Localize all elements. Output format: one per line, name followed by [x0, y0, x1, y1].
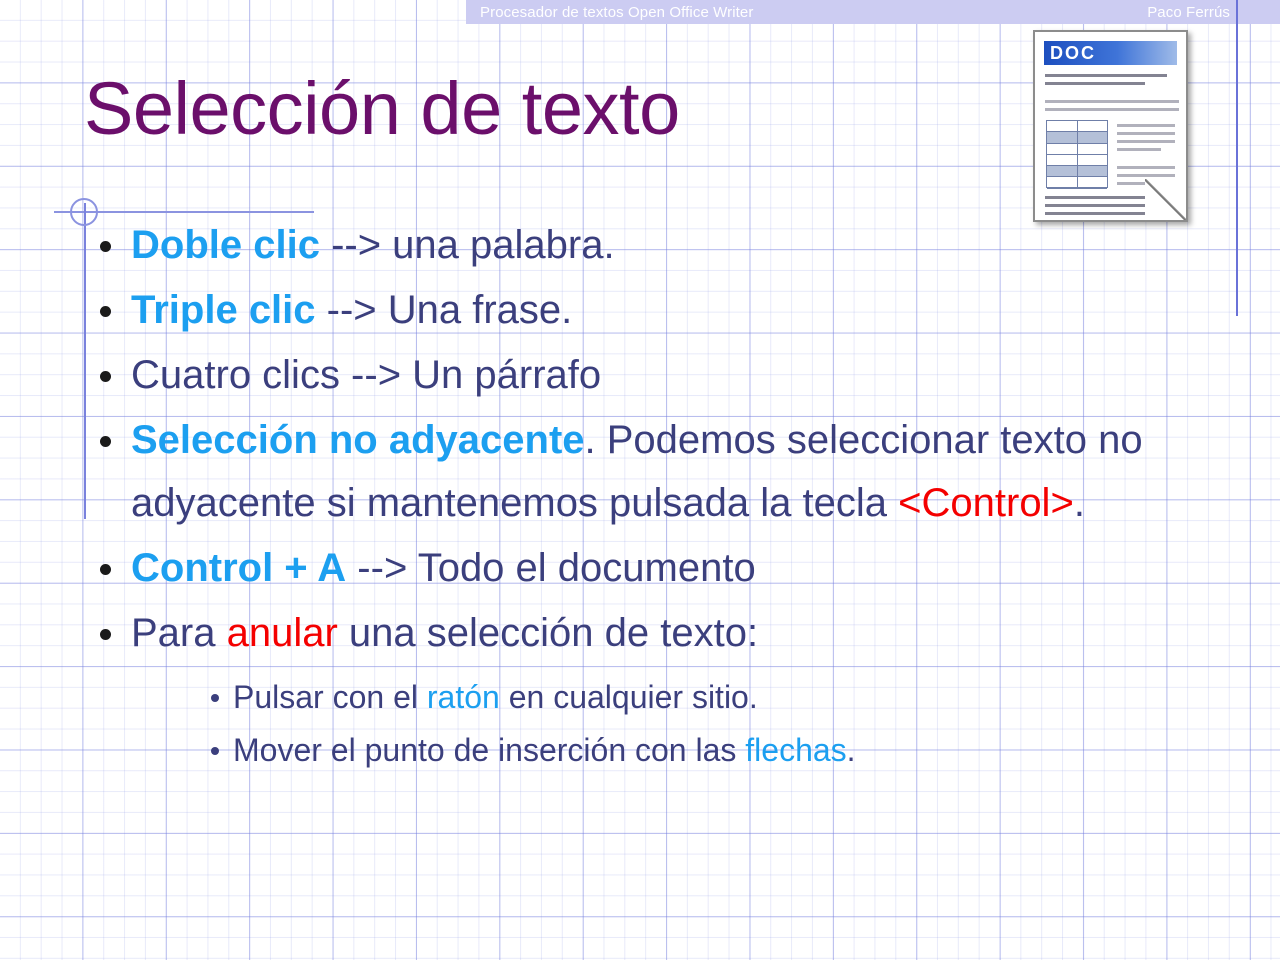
page-title: Selección de texto	[84, 66, 680, 152]
sub-bullet-dot-icon	[211, 694, 219, 702]
doc-text-line	[1045, 74, 1167, 77]
bullet-text-span: --> una palabra.	[320, 223, 615, 267]
bullet-text-span: --> Todo el documento	[346, 546, 756, 590]
bullet-text-span: --> Una frase.	[316, 288, 573, 332]
bullet-text-span: anular	[227, 611, 338, 655]
bullet-text-span: <Control>	[898, 481, 1074, 525]
bullet-text-span: Control + A	[131, 546, 346, 590]
bullet-list: Doble clic --> una palabra.Triple clic -…	[84, 214, 1194, 777]
bullet-text-span: Mover el punto de inserción con las	[233, 732, 745, 768]
bullet-text-span: .	[847, 732, 856, 768]
doc-text-line	[1117, 166, 1175, 169]
doc-text-line	[1045, 108, 1179, 111]
slide-body: Doble clic --> una palabra.Triple clic -…	[84, 214, 1194, 779]
doc-table-column-separator	[1077, 121, 1078, 187]
bullet-text-span: Triple clic	[131, 288, 316, 332]
doc-text-line	[1045, 100, 1179, 103]
right-accent-rule	[1236, 0, 1238, 316]
bullet-text-span: Cuatro clics --> Un párrafo	[131, 353, 601, 397]
doc-text-line	[1117, 132, 1175, 135]
bullet-dot-icon	[100, 241, 111, 252]
list-item: Para anular una selección de texto:Pulsa…	[84, 602, 1194, 777]
doc-document-thumbnail-icon: DOC	[1033, 30, 1188, 222]
bullet-text-span: Doble clic	[131, 223, 320, 267]
list-item: Selección no adyacente. Podemos seleccio…	[84, 409, 1194, 535]
bullet-text-span: Pulsar con el	[233, 679, 427, 715]
bullet-text-span: ratón	[427, 679, 500, 715]
bullet-dot-icon	[100, 371, 111, 382]
bullet-dot-icon	[100, 564, 111, 575]
list-item: Triple clic --> Una frase.	[84, 279, 1194, 342]
bullet-text-span: .	[1074, 481, 1085, 525]
header-course-title: Procesador de textos Open Office Writer	[480, 5, 753, 20]
doc-text-line	[1117, 148, 1161, 151]
doc-text-line	[1117, 140, 1175, 143]
bullet-dot-icon	[100, 436, 111, 447]
bullet-text-span: en cualquier sitio.	[500, 679, 758, 715]
bullet-dot-icon	[100, 306, 111, 317]
list-item: Control + A --> Todo el documento	[84, 537, 1194, 600]
sub-list-item: Mover el punto de inserción con las flec…	[205, 724, 1194, 777]
list-item: Doble clic --> una palabra.	[84, 214, 1194, 277]
sub-bullet-list: Pulsar con el ratón en cualquier sitio.M…	[131, 671, 1194, 777]
bullet-text-span: Para	[131, 611, 227, 655]
bullet-text-span: flechas	[745, 732, 846, 768]
bullet-text-span: Selección no adyacente	[131, 418, 585, 462]
doc-paper: DOC	[1033, 30, 1188, 222]
sub-bullet-dot-icon	[211, 747, 219, 755]
bullet-text-span: una selección de texto:	[338, 611, 758, 655]
slide-canvas: Procesador de textos Open Office Writer …	[0, 0, 1280, 960]
list-item: Cuatro clics --> Un párrafo	[84, 344, 1194, 407]
header-author: Paco Ferrús	[1147, 5, 1268, 20]
doc-format-label: DOC	[1044, 41, 1177, 65]
doc-text-line	[1045, 82, 1145, 85]
slide-header-band: Procesador de textos Open Office Writer …	[466, 0, 1280, 24]
bullet-dot-icon	[100, 629, 111, 640]
doc-text-line	[1117, 124, 1175, 127]
doc-table	[1046, 120, 1108, 188]
sub-list-item: Pulsar con el ratón en cualquier sitio.	[205, 671, 1194, 724]
doc-text-line	[1117, 174, 1175, 177]
